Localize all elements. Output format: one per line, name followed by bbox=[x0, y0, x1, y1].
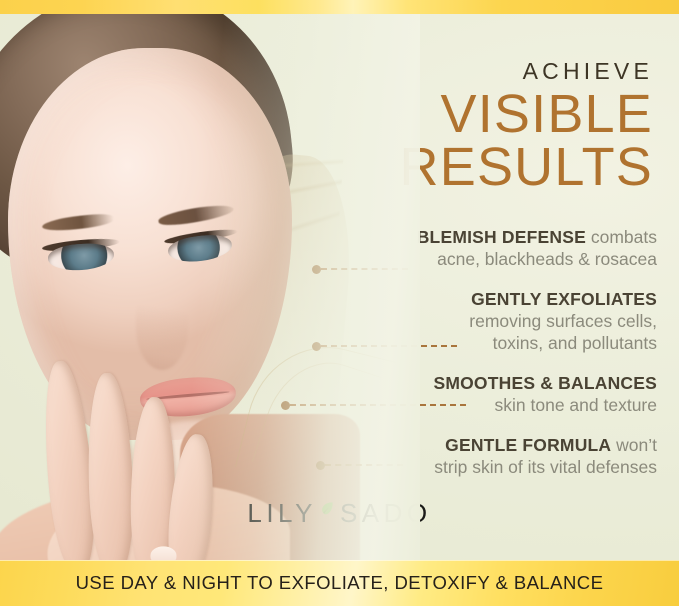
model-portrait-photo bbox=[0, 14, 420, 560]
poster-canvas: ACHIEVE VISIBLE RESULTS BLEMISH DEFENSE … bbox=[0, 14, 679, 560]
tagline-text: USE DAY & NIGHT TO EXFOLIATE, DETOXIFY &… bbox=[76, 572, 604, 594]
benefit-lead: BLEMISH DEFENSE bbox=[417, 227, 586, 247]
hair-side-fall bbox=[201, 149, 359, 489]
shoulder bbox=[0, 484, 290, 560]
product-benefit-poster: ACHIEVE VISIBLE RESULTS BLEMISH DEFENSE … bbox=[0, 0, 679, 606]
model-face bbox=[8, 48, 292, 440]
fingernail-1 bbox=[150, 546, 176, 560]
benefit-lead: GENTLE FORMULA bbox=[445, 435, 611, 455]
top-accent-bar bbox=[0, 0, 679, 14]
eye-left bbox=[47, 242, 115, 273]
finger-4 bbox=[164, 433, 219, 560]
benefit-rest: combats bbox=[586, 227, 657, 247]
benefit-rest: won’t bbox=[611, 435, 657, 455]
hair-strands bbox=[140, 48, 350, 361]
eyebrow-left bbox=[42, 212, 115, 232]
hair-mass bbox=[0, 14, 305, 302]
benefit-lead: SMOOTHES & BALANCES bbox=[433, 373, 657, 393]
eye-right bbox=[167, 232, 234, 265]
palm bbox=[42, 494, 206, 560]
bottom-tagline-banner: USE DAY & NIGHT TO EXFOLIATE, DETOXIFY &… bbox=[0, 560, 679, 606]
finger-1 bbox=[38, 359, 100, 560]
model-hand bbox=[7, 342, 227, 560]
neck bbox=[180, 414, 360, 560]
finger-3 bbox=[129, 397, 176, 560]
eyebrow-right bbox=[157, 202, 234, 229]
nose bbox=[136, 284, 188, 370]
lips bbox=[139, 374, 238, 420]
chin-highlight bbox=[128, 420, 268, 502]
eyelash-right bbox=[164, 227, 239, 246]
benefit-lead: GENTLY EXFOLIATES bbox=[471, 289, 657, 309]
finger-2 bbox=[85, 372, 136, 560]
eyelash-left bbox=[42, 237, 121, 254]
